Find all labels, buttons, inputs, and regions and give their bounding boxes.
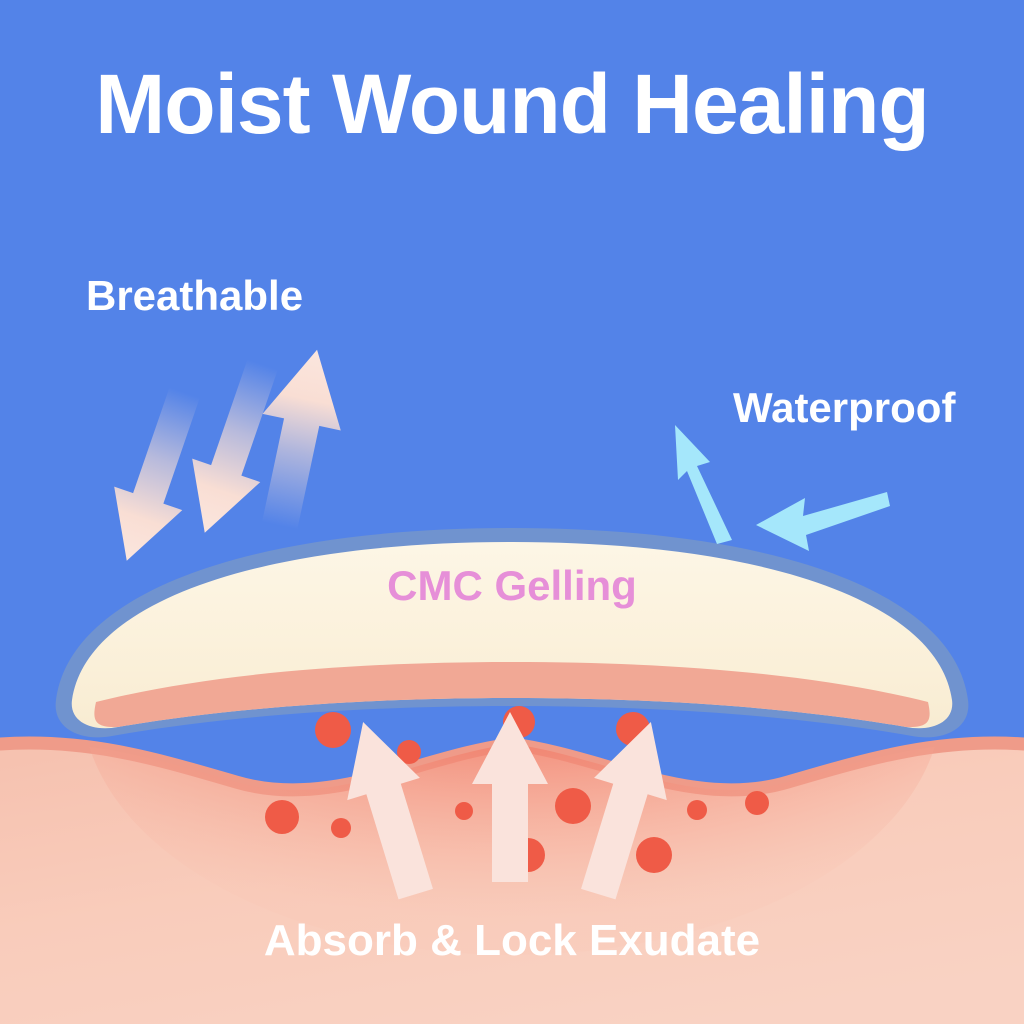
exudate-droplet xyxy=(636,837,672,873)
moist-wound-healing-infographic: Moist Wound Healing Breathable Waterproo… xyxy=(0,0,1024,1024)
exudate-droplet xyxy=(315,712,351,748)
exudate-droplet xyxy=(555,788,591,824)
exudate-droplet xyxy=(687,800,707,820)
absorb-lock-exudate-label: Absorb & Lock Exudate xyxy=(264,916,760,966)
exudate-droplet xyxy=(331,818,351,838)
page-title: Moist Wound Healing xyxy=(95,56,928,153)
exudate-droplet xyxy=(455,802,473,820)
exudate-droplet xyxy=(265,800,299,834)
wound-dressing-diagram xyxy=(0,0,1024,1024)
waterproof-label: Waterproof xyxy=(733,384,955,432)
breathable-label: Breathable xyxy=(86,272,303,320)
cmc-gelling-label: CMC Gelling xyxy=(387,562,637,610)
exudate-droplet xyxy=(745,791,769,815)
